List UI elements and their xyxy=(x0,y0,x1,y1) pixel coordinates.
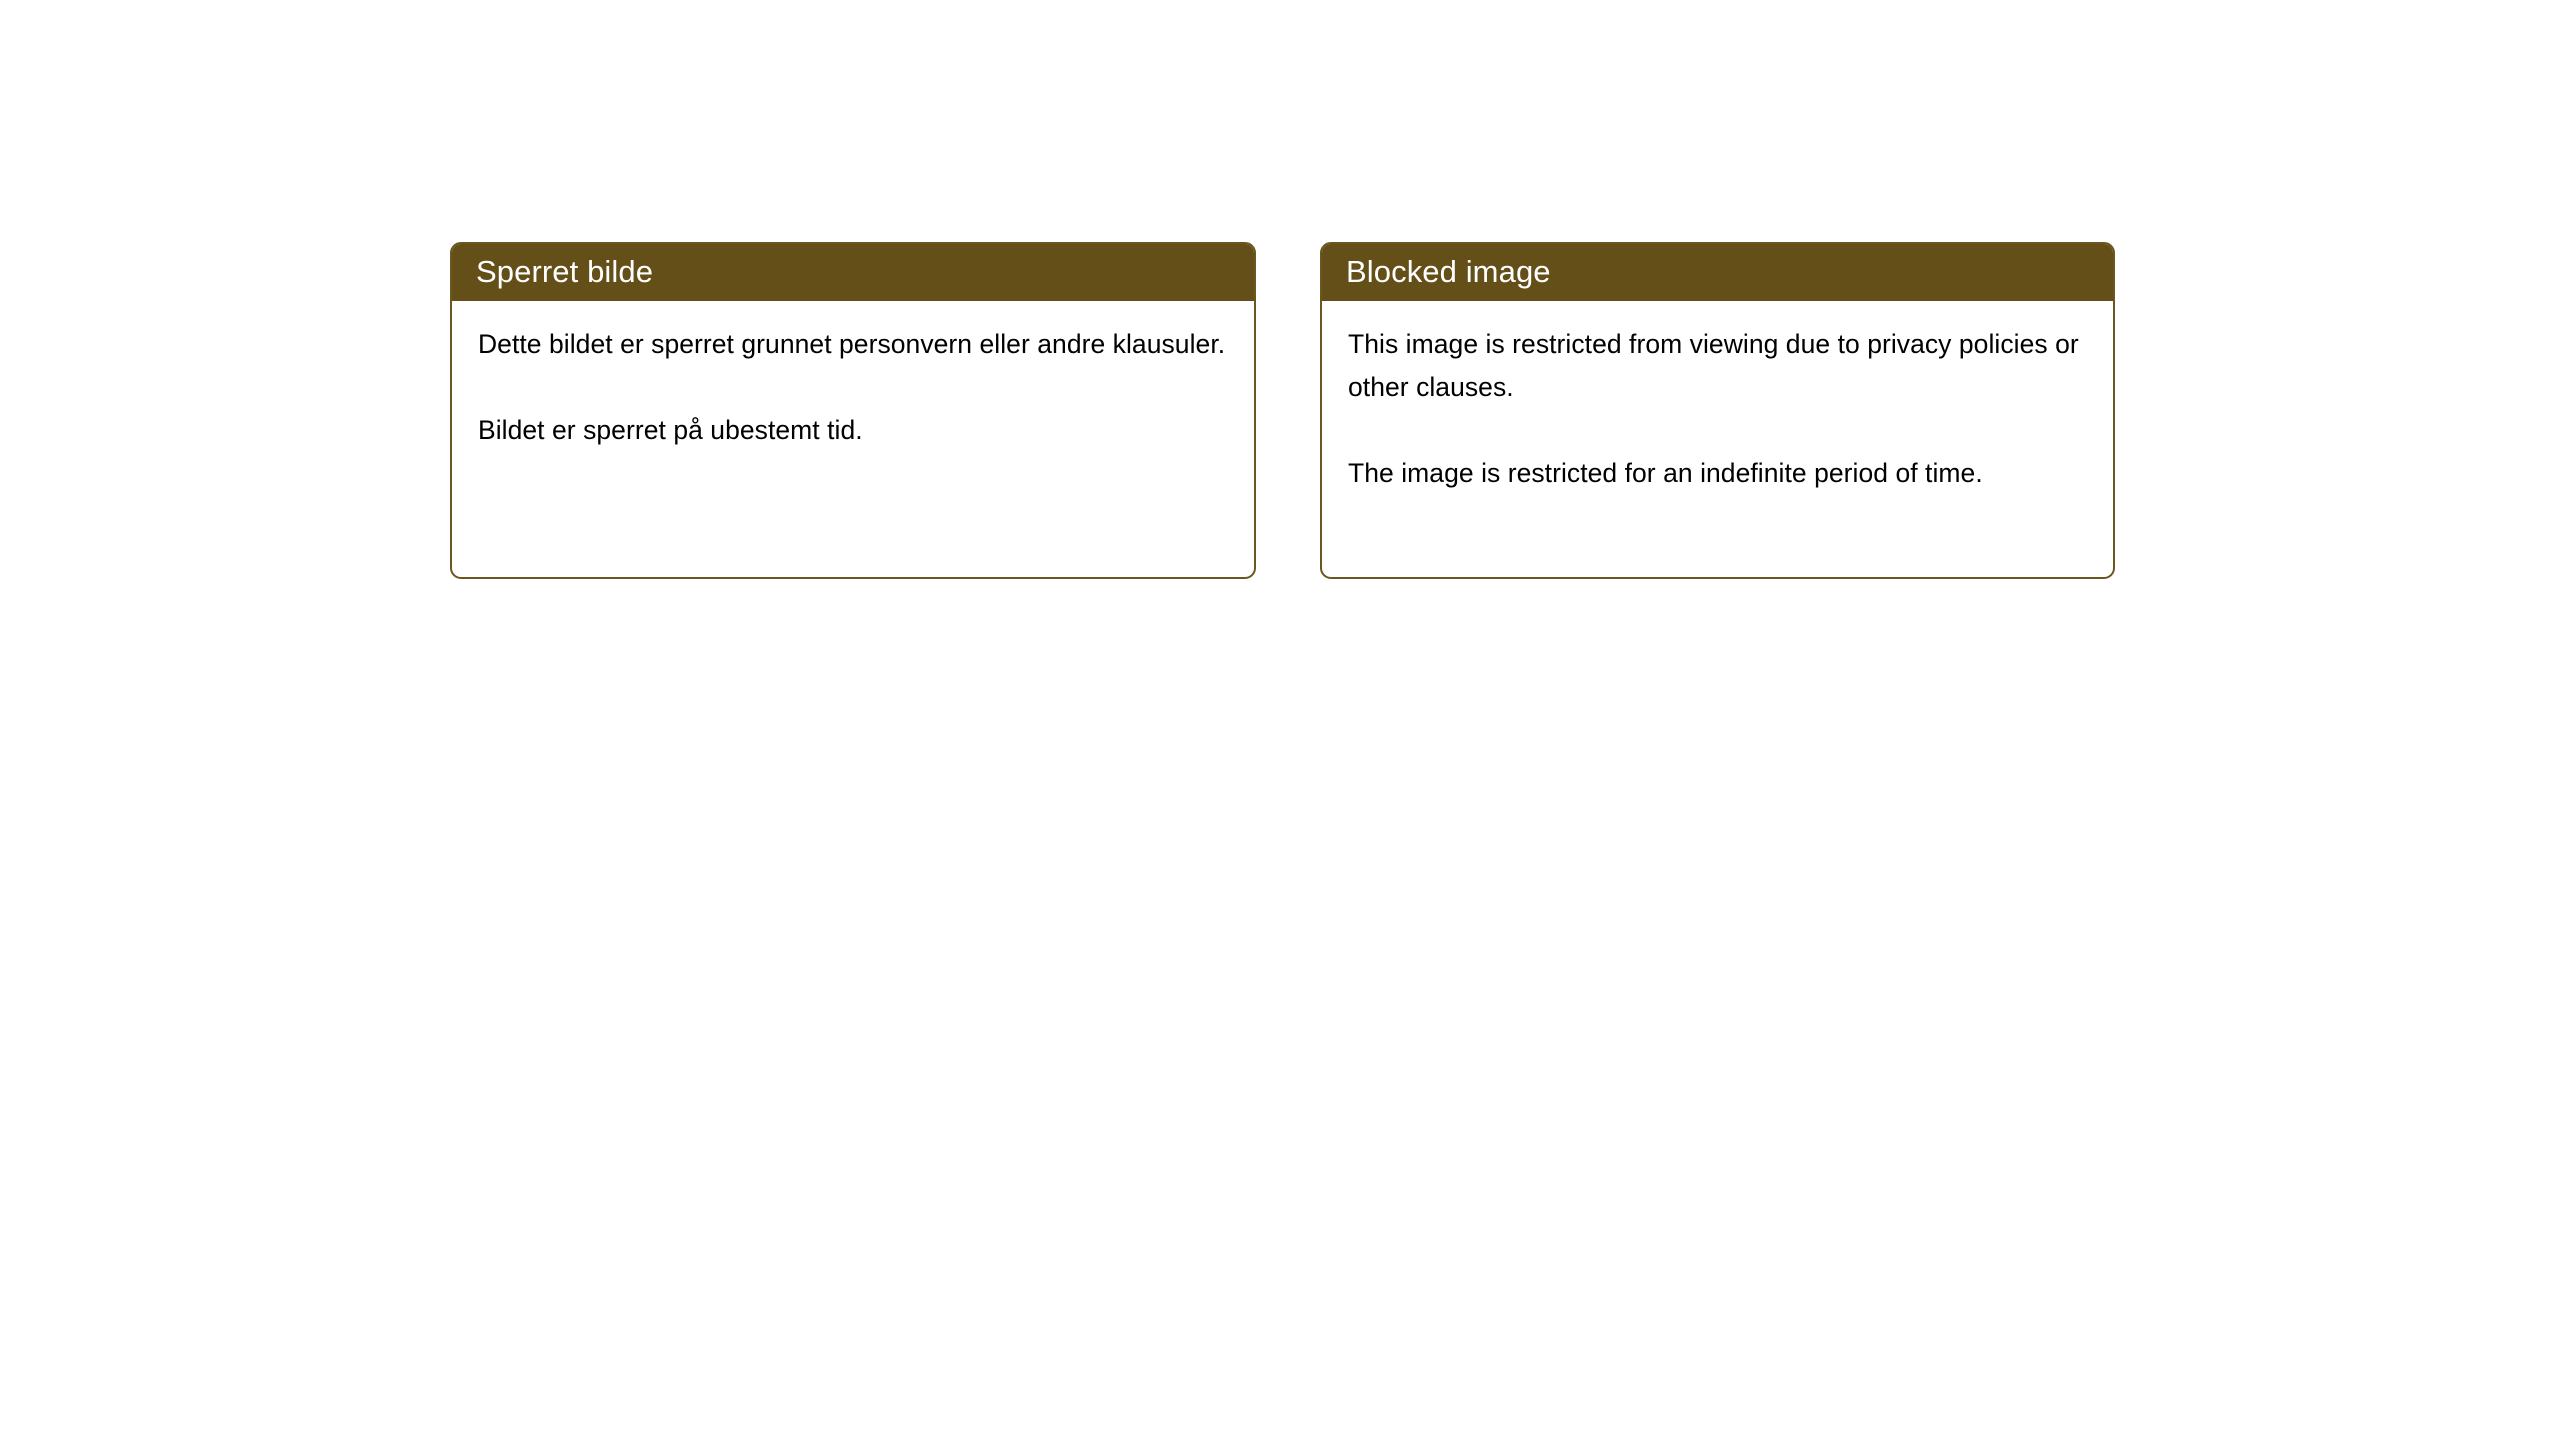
notice-body: Dette bildet er sperret grunnet personve… xyxy=(452,301,1254,452)
notice-body: This image is restricted from viewing du… xyxy=(1322,301,2113,495)
notice-header-bar: Blocked image xyxy=(1320,242,2115,301)
blocked-image-notice-norwegian: Sperret bilde Dette bildet er sperret gr… xyxy=(450,242,1256,579)
notice-panels-container: Sperret bilde Dette bildet er sperret gr… xyxy=(0,0,2560,1440)
notice-paragraph-primary: This image is restricted from viewing du… xyxy=(1348,323,2091,409)
notice-header-bar: Sperret bilde xyxy=(450,242,1256,301)
notice-title: Sperret bilde xyxy=(476,256,653,287)
notice-paragraph-primary: Dette bildet er sperret grunnet personve… xyxy=(478,323,1232,366)
blocked-image-notice-english: Blocked image This image is restricted f… xyxy=(1320,242,2115,579)
notice-paragraph-secondary: The image is restricted for an indefinit… xyxy=(1348,452,2091,495)
notice-paragraph-secondary: Bildet er sperret på ubestemt tid. xyxy=(478,409,1232,452)
notice-title: Blocked image xyxy=(1346,256,1551,287)
